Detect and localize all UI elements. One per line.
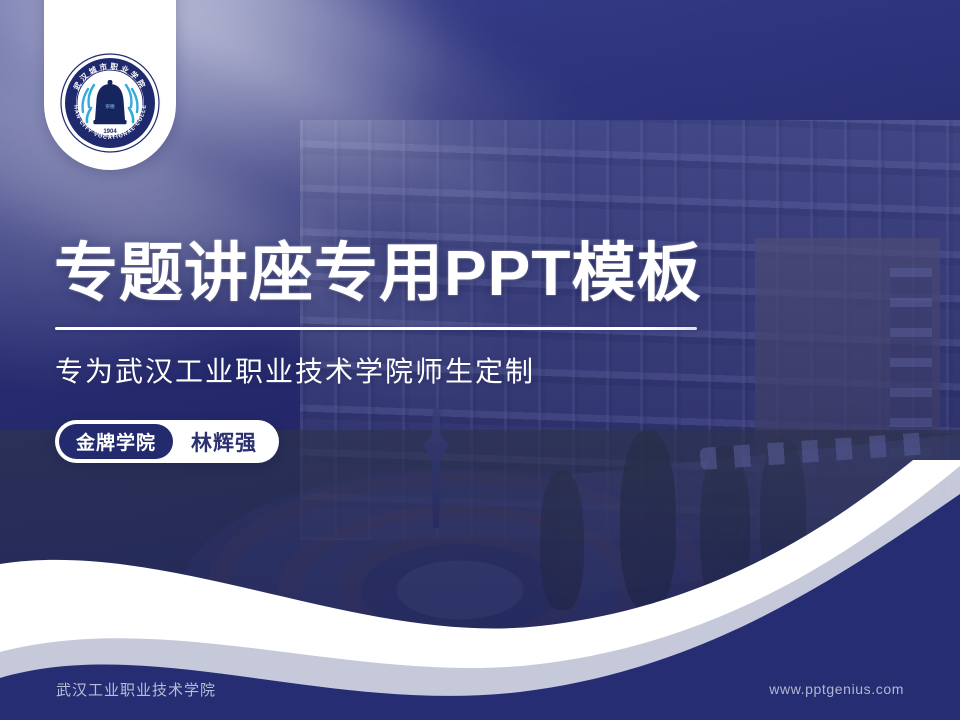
footer-website[interactable]: www.pptgenius.com [769, 681, 904, 697]
presentation-title-slide: 武汉城市职业学院 WUHAN CITY VOCATIONAL COLLEGE [0, 0, 960, 720]
slide-subtitle: 专为武汉工业职业技术学院师生定制 [55, 350, 535, 390]
slide-title: 专题讲座专用PPT模板 [54, 239, 701, 308]
presenter-badge[interactable]: 金牌学院 林辉强 [55, 420, 279, 463]
title-divider-rule [55, 327, 697, 330]
presenter-name: 林辉强 [191, 427, 257, 457]
footer-institution-name: 武汉工业职业技术学院 [56, 679, 216, 700]
badge-chip-label: 金牌学院 [59, 424, 173, 459]
